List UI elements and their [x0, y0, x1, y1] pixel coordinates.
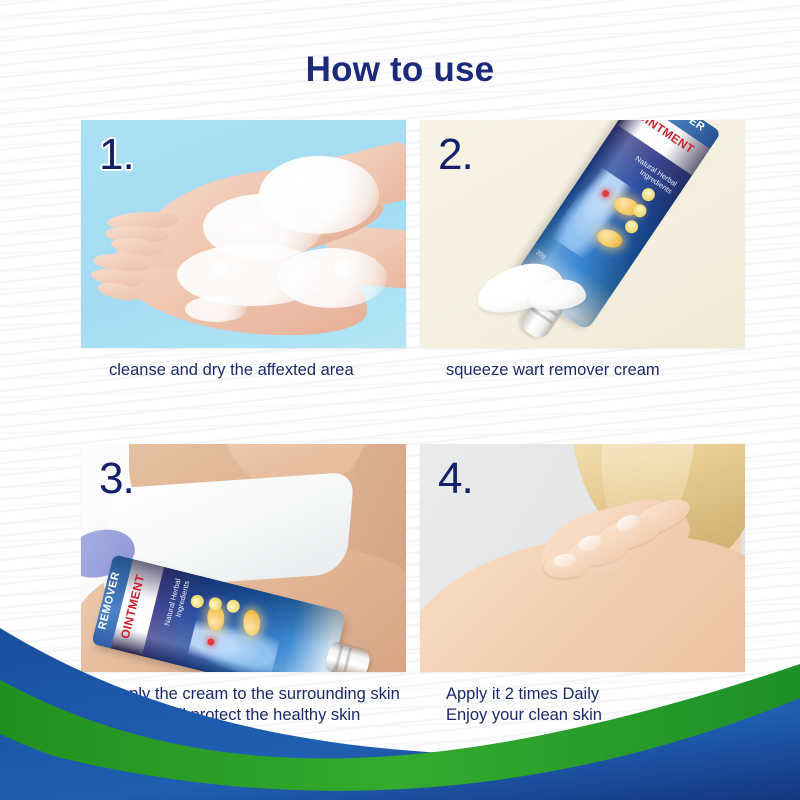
- clean-shoulder-photo: 4.: [420, 444, 745, 672]
- step-4-caption: Apply it 2 times Daily Enjoy your clean …: [420, 684, 745, 726]
- page-title: How to use: [0, 50, 800, 90]
- step-4-number: 4.: [438, 454, 473, 504]
- steps-row-top: 1.: [81, 120, 745, 381]
- apply-to-skin-photo: 3. Natural Herbal Ingredients: [81, 444, 406, 672]
- how-to-use-poster: How to use 1.: [0, 0, 800, 800]
- foam-drip: [185, 296, 247, 322]
- foam-bubble-3: [241, 220, 257, 235]
- steps-grid: 1.: [81, 120, 745, 726]
- foam-bubble-4: [213, 262, 231, 278]
- step-1-number: 1.: [99, 130, 134, 180]
- step-3: 3. Natural Herbal Ingredients: [81, 444, 406, 726]
- step-1: 1.: [81, 120, 406, 381]
- foam-bubble-1: [295, 184, 315, 202]
- step-4: 4. Apply it 2 times Daily Enjoy your cle…: [420, 444, 745, 726]
- step-2-caption: squeeze wart remover cream: [420, 360, 745, 381]
- foam-bubble-2: [321, 202, 336, 216]
- step-1-caption: cleanse and dry the affexted area: [81, 360, 406, 381]
- steps-row-bottom: 3. Natural Herbal Ingredients: [81, 444, 745, 726]
- step-2-number: 2.: [438, 130, 473, 180]
- tube-squeeze-photo: 2. Natural Herbal Ingredients: [420, 120, 745, 348]
- soapy-hands-photo: 1.: [81, 120, 406, 348]
- foam-bubble-6: [333, 260, 353, 277]
- foam-bubble-5: [287, 272, 304, 287]
- step-3-number: 3.: [99, 454, 134, 504]
- step-3-caption: Apply the cream to the surrounding skin …: [81, 684, 406, 726]
- step-2: 2. Natural Herbal Ingredients: [420, 120, 745, 381]
